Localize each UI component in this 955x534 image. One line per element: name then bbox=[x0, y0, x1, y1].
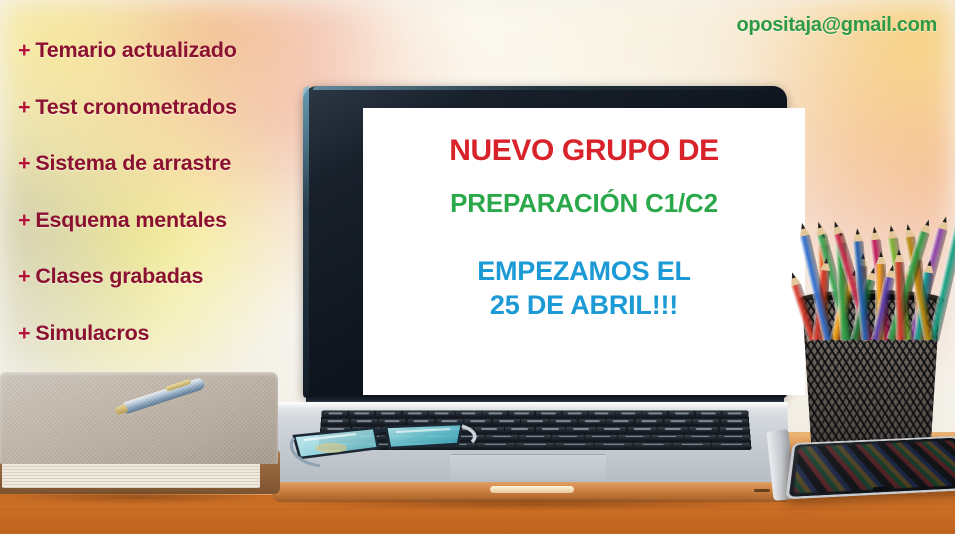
feature-label: Test cronometrados bbox=[35, 95, 237, 119]
base-highlight bbox=[276, 402, 787, 409]
keyboard-key bbox=[349, 411, 375, 417]
pen-tip bbox=[114, 404, 128, 415]
keyboard-key bbox=[509, 411, 534, 417]
pencil-lead bbox=[905, 224, 910, 231]
pencil-lead bbox=[888, 225, 893, 232]
pencil-lead bbox=[942, 216, 947, 223]
feature-label: Simulacros bbox=[35, 321, 149, 345]
keyboard-key bbox=[516, 442, 554, 448]
plus-icon: + bbox=[18, 38, 30, 62]
feature-list-item: +Test cronometrados bbox=[18, 97, 318, 119]
keyboard-key bbox=[555, 442, 593, 448]
keyboard-key bbox=[658, 427, 688, 433]
pencil-holder bbox=[796, 140, 946, 440]
keyboard-key bbox=[589, 411, 614, 417]
tablet-screen-reflection bbox=[794, 440, 955, 493]
keyboard-key bbox=[712, 442, 750, 448]
keyboard-key bbox=[521, 419, 548, 425]
pencil-lead bbox=[799, 223, 804, 230]
keyboard-key bbox=[692, 419, 719, 425]
black-tablet bbox=[785, 436, 955, 499]
keyboard-key bbox=[505, 427, 534, 433]
keyboard-key bbox=[552, 435, 584, 441]
feature-list-item: +Temario actualizado bbox=[18, 40, 318, 62]
feature-list-item: +Clases grabadas bbox=[18, 266, 318, 288]
plus-icon: + bbox=[18, 208, 30, 232]
plus-icon: + bbox=[18, 321, 30, 345]
plus-icon: + bbox=[18, 151, 30, 175]
feature-list-item: +Esquema mentales bbox=[18, 210, 318, 232]
plus-icon: + bbox=[18, 264, 30, 288]
pencil-lead bbox=[815, 222, 820, 229]
screen-message: NUEVO GRUPO DE PREPARACIÓN C1/C2 EMPEZAM… bbox=[363, 108, 805, 395]
pencil-lead bbox=[896, 249, 900, 255]
keyboard-key bbox=[519, 435, 551, 441]
keyboard-key bbox=[607, 419, 634, 425]
keyboard-key bbox=[652, 435, 684, 441]
keyboard-key bbox=[578, 419, 605, 425]
feature-list-item: +Simulacros bbox=[18, 323, 318, 345]
pencil-lead bbox=[854, 228, 859, 234]
start-date-message: EMPEZAMOS EL 25 DE ABRIL!!! bbox=[477, 254, 691, 323]
feature-label: Clases grabadas bbox=[35, 264, 203, 288]
keyboard-key bbox=[536, 411, 561, 417]
keyboard-key bbox=[376, 411, 402, 417]
feature-list-item: +Sistema de arrastre bbox=[18, 153, 318, 175]
keyboard-key bbox=[718, 435, 750, 441]
tablet-home-button bbox=[873, 486, 890, 491]
plus-icon: + bbox=[18, 95, 30, 119]
silver-pen bbox=[120, 377, 205, 415]
feature-label: Sistema de arrastre bbox=[35, 151, 231, 175]
keyboard-key bbox=[616, 411, 641, 417]
keyboard-key bbox=[482, 411, 507, 417]
start-date-line1: EMPEZAMOS EL bbox=[477, 256, 691, 286]
keyboard-key bbox=[536, 427, 565, 433]
pencil-lead bbox=[927, 260, 932, 266]
keyboard-key bbox=[635, 419, 662, 425]
keyboard-key bbox=[696, 411, 722, 417]
keyboard-key bbox=[585, 435, 617, 441]
keyboard-key bbox=[642, 411, 667, 417]
notebook-cover bbox=[0, 372, 278, 464]
keyboard-key bbox=[634, 442, 672, 448]
start-date-line2: 25 DE ABRIL!!! bbox=[490, 290, 678, 320]
laptop-shadow bbox=[292, 498, 774, 510]
keyboard-key bbox=[486, 435, 518, 441]
keyboard-key bbox=[664, 419, 691, 425]
keyboard-key bbox=[722, 411, 748, 417]
pencil-lead bbox=[879, 251, 883, 257]
keyboard-key bbox=[493, 419, 520, 425]
laptop-lid: NUEVO GRUPO DE PREPARACIÓN C1/C2 EMPEZAM… bbox=[303, 86, 787, 398]
keyboard-key bbox=[562, 411, 587, 417]
keyboard-key bbox=[628, 427, 657, 433]
pen-clip bbox=[165, 379, 191, 392]
keyboard-key bbox=[673, 442, 711, 448]
pencil-lead bbox=[824, 257, 829, 263]
headline-primary: NUEVO GRUPO DE bbox=[449, 134, 718, 167]
keyboard-row bbox=[322, 411, 748, 417]
keyboard-key bbox=[618, 435, 650, 441]
notebook-shadow bbox=[0, 490, 280, 504]
keyboard-key bbox=[597, 427, 626, 433]
promo-poster: opositaja@gmail.com +Temario actualizado… bbox=[0, 0, 955, 534]
keyboard-key bbox=[429, 411, 454, 417]
keyboard-key bbox=[669, 411, 695, 417]
keyboard-key bbox=[477, 442, 515, 448]
keyboard-key bbox=[550, 419, 577, 425]
keyboard-key bbox=[322, 411, 348, 417]
feature-label: Esquema mentales bbox=[35, 208, 227, 232]
feature-label: Temario actualizado bbox=[35, 38, 236, 62]
contact-email: opositaja@gmail.com bbox=[736, 14, 937, 37]
keyboard-key bbox=[689, 427, 719, 433]
front-port-indicator bbox=[754, 489, 770, 492]
keyboard-key bbox=[719, 427, 749, 433]
keyboard-key bbox=[456, 411, 481, 417]
eyeglasses-svg bbox=[286, 418, 482, 476]
keyboard-key bbox=[402, 411, 427, 417]
laptop-screen: NUEVO GRUPO DE PREPARACIÓN C1/C2 EMPEZAM… bbox=[363, 108, 805, 395]
keyboard-key bbox=[566, 427, 595, 433]
pen-body bbox=[120, 377, 205, 415]
keyboard-key bbox=[685, 435, 717, 441]
eyeglasses bbox=[286, 418, 482, 476]
pencil-lead bbox=[871, 227, 876, 233]
feature-list: +Temario actualizado +Test cronometrados… bbox=[18, 40, 318, 379]
lid-release-notch bbox=[490, 486, 574, 493]
keyboard-key bbox=[721, 419, 749, 425]
keyboard-key bbox=[595, 442, 633, 448]
headline-secondary: PREPARACIÓN C1/C2 bbox=[450, 189, 718, 218]
leather-notebook bbox=[0, 372, 284, 506]
